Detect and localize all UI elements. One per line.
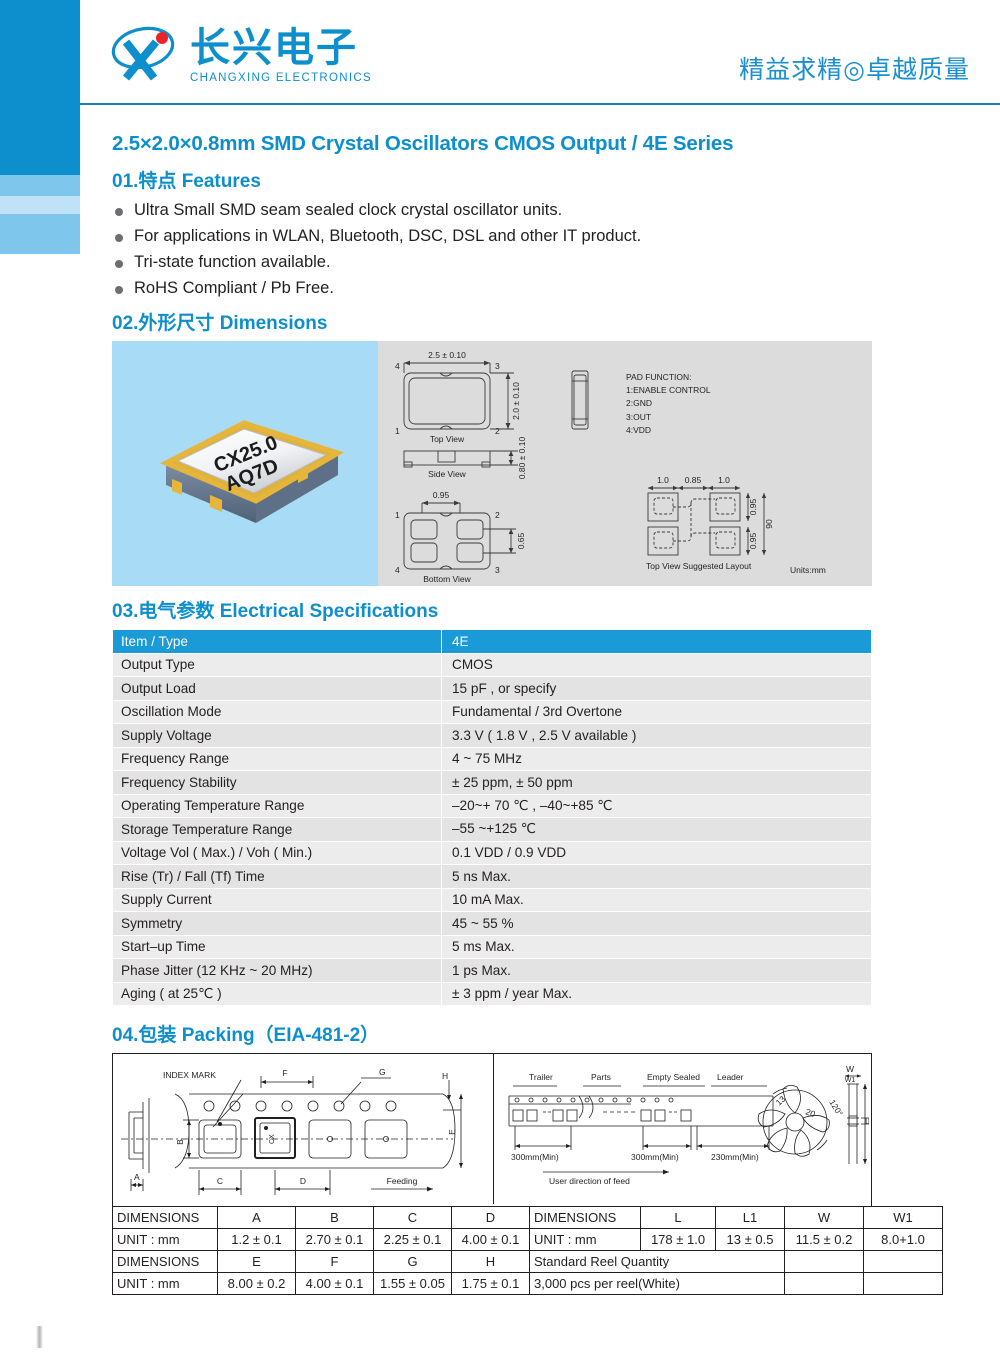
- table-row: Oscillation ModeFundamental / 3rd Overto…: [113, 700, 872, 724]
- spec-value: 4 ~ 75 MHz: [442, 747, 872, 771]
- table-row: DIMENSIONS A B C D DIMENSIONS L L1 W W1: [113, 1207, 943, 1229]
- header-slogan: 精益求精◎卓越质量: [739, 50, 970, 86]
- col-header-l: L: [641, 1207, 716, 1229]
- table-row: Voltage Vol ( Max.) / Voh ( Min.)0.1 VDD…: [113, 841, 872, 865]
- value-b: 2.70 ± 0.1: [296, 1229, 374, 1251]
- table-row: Frequency Stability± 25 ppm, ± 50 ppm: [113, 771, 872, 795]
- feature-text: For applications in WLAN, Bluetooth, DSC…: [134, 227, 641, 245]
- svg-text:INDEX MARK: INDEX MARK: [163, 1070, 216, 1080]
- spec-value: 1 ps Max.: [442, 959, 872, 983]
- col-header-d: D: [452, 1207, 530, 1229]
- pad-function-1: 1:ENABLE CONTROL: [626, 385, 711, 395]
- bullet-icon: [115, 286, 123, 294]
- list-item: Tri-state function available.: [112, 253, 872, 272]
- value-w1: 8.0+1.0: [864, 1229, 943, 1251]
- electrical-specifications-table: Item / Type 4E Output TypeCMOS Output Lo…: [112, 629, 872, 1006]
- spec-item: Output Type: [113, 653, 442, 677]
- list-item: RoHS Compliant / Pb Free.: [112, 279, 872, 298]
- spec-value: 5 ms Max.: [442, 935, 872, 959]
- row-label: DIMENSIONS: [113, 1207, 218, 1229]
- page-bottom-mark: [36, 1326, 43, 1348]
- value-c: 2.25 ± 0.1: [374, 1229, 452, 1251]
- value-e: 8.00 ± 0.2: [218, 1273, 296, 1295]
- packing-figure-divider: [493, 1054, 494, 1204]
- empty-cell: [785, 1251, 864, 1273]
- svg-text:G: G: [379, 1067, 386, 1077]
- table-row: Output Load15 pF , or specify: [113, 677, 872, 701]
- page-header: 长兴电子 CHANGXING ELECTRONICS 精益求精◎卓越质量: [80, 0, 1000, 104]
- col-header-e: E: [218, 1251, 296, 1273]
- svg-text:Leader: Leader: [717, 1072, 744, 1082]
- table-row: Supply Current10 mA Max.: [113, 888, 872, 912]
- svg-text:0.65: 0.65: [516, 532, 526, 549]
- empty-cell: [864, 1251, 943, 1273]
- bullet-icon: [115, 234, 123, 242]
- spec-value: CMOS: [442, 653, 872, 677]
- svg-text:3: 3: [495, 565, 500, 575]
- spec-item: Output Load: [113, 677, 442, 701]
- row-label-right: UNIT : mm: [530, 1229, 641, 1251]
- svg-text:1.0: 1.0: [657, 475, 669, 485]
- value-l1: 13 ± 0.5: [716, 1229, 785, 1251]
- row-label: DIMENSIONS: [113, 1251, 218, 1273]
- row-label: UNIT : mm: [113, 1229, 218, 1251]
- packing-dimensions-table: DIMENSIONS A B C D DIMENSIONS L L1 W W1 …: [112, 1206, 943, 1295]
- col-header-w1: W1: [864, 1207, 943, 1229]
- page-content: 2.5×2.0×0.8mm SMD Crystal Oscillators CM…: [112, 120, 872, 1295]
- header-divider: [80, 103, 1000, 105]
- dimensions-figure: CX25.0 AQ7D 2.5 ± 0.10: [112, 341, 872, 586]
- svg-text:Trailer: Trailer: [529, 1072, 553, 1082]
- spec-item: Aging ( at 25℃ ): [113, 982, 442, 1006]
- spec-item: Frequency Range: [113, 747, 442, 771]
- pad-function-2: 2:GND: [626, 398, 652, 408]
- svg-text:A: A: [134, 1172, 140, 1182]
- company-logo: 长兴电子 CHANGXING ELECTRONICS: [110, 22, 372, 84]
- spec-value: 45 ~ 55 %: [442, 912, 872, 936]
- svg-text:Feeding: Feeding: [387, 1176, 418, 1186]
- svg-text:4: 4: [395, 361, 400, 371]
- svg-text:0.85: 0.85: [685, 475, 702, 485]
- spec-item: Oscillation Mode: [113, 700, 442, 724]
- column-header-type: 4E: [442, 630, 872, 654]
- pad-function-3: 3:OUT: [626, 412, 651, 422]
- col-header-l1: L1: [716, 1207, 785, 1229]
- spec-item: Frequency Stability: [113, 771, 442, 795]
- column-header-item: Item / Type: [113, 630, 442, 654]
- spec-item: Storage Temperature Range: [113, 818, 442, 842]
- standard-reel-quantity-value: 3,000 pcs per reel(White): [530, 1273, 785, 1295]
- section-packing-heading: 04.包装 Packing（EIA-481-2）: [112, 1020, 872, 1047]
- pad-function-block: PAD FUNCTION: 1:ENABLE CONTROL 2:GND 3:O…: [626, 371, 711, 437]
- col-header-f: F: [296, 1251, 374, 1273]
- svg-text:120°: 120°: [827, 1098, 845, 1118]
- crystal-package-image: CX25.0 AQ7D: [148, 405, 348, 525]
- svg-text:3: 3: [495, 361, 500, 371]
- feature-text: RoHS Compliant / Pb Free.: [134, 279, 334, 297]
- spec-value: 15 pF , or specify: [442, 677, 872, 701]
- svg-text:H: H: [442, 1071, 448, 1081]
- table-row: Phase Jitter (12 KHz ~ 20 MHz)1 ps Max.: [113, 959, 872, 983]
- table-row: Rise (Tr) / Fall (Tf) Time5 ns Max.: [113, 865, 872, 889]
- value-f: 4.00 ± 0.1: [296, 1273, 374, 1295]
- list-item: Ultra Small SMD seam sealed clock crysta…: [112, 201, 872, 220]
- svg-text:Parts: Parts: [591, 1072, 611, 1082]
- spec-item: Phase Jitter (12 KHz ~ 20 MHz): [113, 959, 442, 983]
- pad-function-4: 4:VDD: [626, 425, 651, 435]
- bullet-icon: [115, 208, 123, 216]
- col-header-h: H: [452, 1251, 530, 1273]
- svg-text:Units:mm: Units:mm: [790, 565, 826, 575]
- value-g: 1.55 ± 0.05: [374, 1273, 452, 1295]
- row-label: UNIT : mm: [113, 1273, 218, 1295]
- svg-text:F: F: [282, 1068, 287, 1078]
- svg-text:E: E: [447, 1129, 457, 1135]
- svg-text:B: B: [175, 1139, 185, 1145]
- svg-text:2.0 ± 0.10: 2.0 ± 0.10: [511, 382, 521, 420]
- svg-text:230mm(Min): 230mm(Min): [711, 1152, 759, 1162]
- value-l: 178 ± 1.0: [641, 1229, 716, 1251]
- package-outline-drawing: 2.5 ± 0.10 4 3 1 2: [378, 341, 872, 586]
- standard-reel-quantity-label: Standard Reel Quantity: [530, 1251, 785, 1273]
- svg-text:L1: L1: [865, 1116, 869, 1126]
- bullet-icon: [115, 260, 123, 268]
- svg-text:4: 4: [395, 565, 400, 575]
- spec-value: –20~+ 70 ℃ , –40~+85 ℃: [442, 794, 872, 818]
- svg-text:300mm(Min): 300mm(Min): [631, 1152, 679, 1162]
- svg-text:0.95: 0.95: [748, 498, 758, 515]
- spec-item: Supply Current: [113, 888, 442, 912]
- table-row: Output TypeCMOS: [113, 653, 872, 677]
- list-item: For applications in WLAN, Bluetooth, DSC…: [112, 227, 872, 246]
- spec-value: 3.3 V ( 1.8 V , 2.5 V available ): [442, 724, 872, 748]
- features-list: Ultra Small SMD seam sealed clock crysta…: [112, 201, 872, 298]
- changxing-cx-logo-icon: [110, 22, 182, 84]
- spec-value: ± 25 ppm, ± 50 ppm: [442, 771, 872, 795]
- packing-figure: A: [112, 1053, 872, 1207]
- feature-text: Ultra Small SMD seam sealed clock crysta…: [134, 201, 562, 219]
- spec-value: ± 3 ppm / year Max.: [442, 982, 872, 1006]
- table-header-row: Item / Type 4E: [113, 630, 872, 654]
- svg-text:300mm(Min): 300mm(Min): [511, 1152, 559, 1162]
- svg-text:0.95: 0.95: [748, 532, 758, 549]
- svg-text:2: 2: [495, 426, 500, 436]
- row-label-right: DIMENSIONS: [530, 1207, 641, 1229]
- sidebar-band-medium-bottom: [0, 214, 80, 254]
- table-row: Storage Temperature Range–55 ~+125 ℃: [113, 818, 872, 842]
- spec-value: 10 mA Max.: [442, 888, 872, 912]
- page-title: 2.5×2.0×0.8mm SMD Crystal Oscillators CM…: [112, 132, 872, 156]
- svg-text:2: 2: [495, 510, 500, 520]
- table-row: Frequency Range4 ~ 75 MHz: [113, 747, 872, 771]
- feature-text: Tri-state function available.: [134, 253, 331, 271]
- spec-value: –55 ~+125 ℃: [442, 818, 872, 842]
- svg-text:0.95: 0.95: [433, 490, 450, 500]
- svg-text:1: 1: [395, 510, 400, 520]
- spec-item: Voltage Vol ( Max.) / Voh ( Min.): [113, 841, 442, 865]
- logo-name-en: CHANGXING ELECTRONICS: [190, 72, 372, 84]
- svg-text:Top View: Top View: [430, 434, 465, 444]
- svg-text:0.80 ± 0.10: 0.80 ± 0.10: [517, 436, 527, 479]
- product-photo-panel: CX25.0 AQ7D: [112, 341, 378, 586]
- section-dimensions-heading: 02.外形尺寸 Dimensions: [112, 308, 872, 335]
- sidebar-band-dark: [0, 0, 80, 175]
- empty-cell: [864, 1273, 943, 1295]
- spec-value: 5 ns Max.: [442, 865, 872, 889]
- value-d: 4.00 ± 0.1: [452, 1229, 530, 1251]
- svg-text:13: 13: [774, 1094, 788, 1108]
- value-h: 1.75 ± 0.1: [452, 1273, 530, 1295]
- svg-text:Empty Sealed: Empty Sealed: [647, 1072, 700, 1082]
- table-row: Start–up Time5 ms Max.: [113, 935, 872, 959]
- sidebar-band-medium-top: [0, 175, 80, 196]
- col-header-a: A: [218, 1207, 296, 1229]
- section-features-heading: 01.特点 Features: [112, 166, 872, 193]
- spec-item: Start–up Time: [113, 935, 442, 959]
- mechanical-drawing-panel: 2.5 ± 0.10 4 3 1 2: [378, 341, 872, 586]
- col-header-b: B: [296, 1207, 374, 1229]
- sidebar-band-light: [0, 196, 80, 214]
- svg-text:W1: W1: [845, 1077, 856, 1084]
- spec-item: Rise (Tr) / Fall (Tf) Time: [113, 865, 442, 889]
- svg-text:Top View Suggested Layout: Top View Suggested Layout: [646, 561, 752, 571]
- spec-item: Symmetry: [113, 912, 442, 936]
- spec-value: Fundamental / 3rd Overtone: [442, 700, 872, 724]
- pad-function-title: PAD FUNCTION:: [626, 372, 691, 382]
- col-header-w: W: [785, 1207, 864, 1229]
- table-row: Aging ( at 25℃ )± 3 ppm / year Max.: [113, 982, 872, 1006]
- col-header-c: C: [374, 1207, 452, 1229]
- spec-item: Operating Temperature Range: [113, 794, 442, 818]
- svg-text:Bottom View: Bottom View: [423, 574, 471, 584]
- svg-text:2.5 ± 0.10: 2.5 ± 0.10: [428, 350, 466, 360]
- svg-text:90: 90: [764, 519, 774, 529]
- svg-text:C: C: [217, 1176, 223, 1186]
- svg-text:Side View: Side View: [428, 469, 467, 479]
- section-electrical-heading: 03.电气参数 Electrical Specifications: [112, 596, 872, 623]
- spec-value: 0.1 VDD / 0.9 VDD: [442, 841, 872, 865]
- table-row: DIMENSIONS E F G H Standard Reel Quantit…: [113, 1251, 943, 1273]
- svg-text:User direction of feed: User direction of feed: [549, 1176, 630, 1186]
- table-row: Operating Temperature Range–20~+ 70 ℃ , …: [113, 794, 872, 818]
- spec-item: Supply Voltage: [113, 724, 442, 748]
- value-w: 11.5 ± 0.2: [785, 1229, 864, 1251]
- col-header-g: G: [374, 1251, 452, 1273]
- packing-diagram: A: [113, 1054, 869, 1204]
- table-row: Supply Voltage3.3 V ( 1.8 V , 2.5 V avai…: [113, 724, 872, 748]
- svg-text:D: D: [300, 1176, 306, 1186]
- empty-cell: [785, 1273, 864, 1295]
- table-row: UNIT : mm 8.00 ± 0.2 4.00 ± 0.1 1.55 ± 0…: [113, 1273, 943, 1295]
- svg-text:1: 1: [395, 426, 400, 436]
- table-row: UNIT : mm 1.2 ± 0.1 2.70 ± 0.1 2.25 ± 0.…: [113, 1229, 943, 1251]
- svg-text:1.0: 1.0: [718, 475, 730, 485]
- svg-text:W: W: [846, 1064, 854, 1074]
- table-row: Symmetry45 ~ 55 %: [113, 912, 872, 936]
- value-a: 1.2 ± 0.1: [218, 1229, 296, 1251]
- logo-name-cn: 长兴电子: [190, 27, 372, 69]
